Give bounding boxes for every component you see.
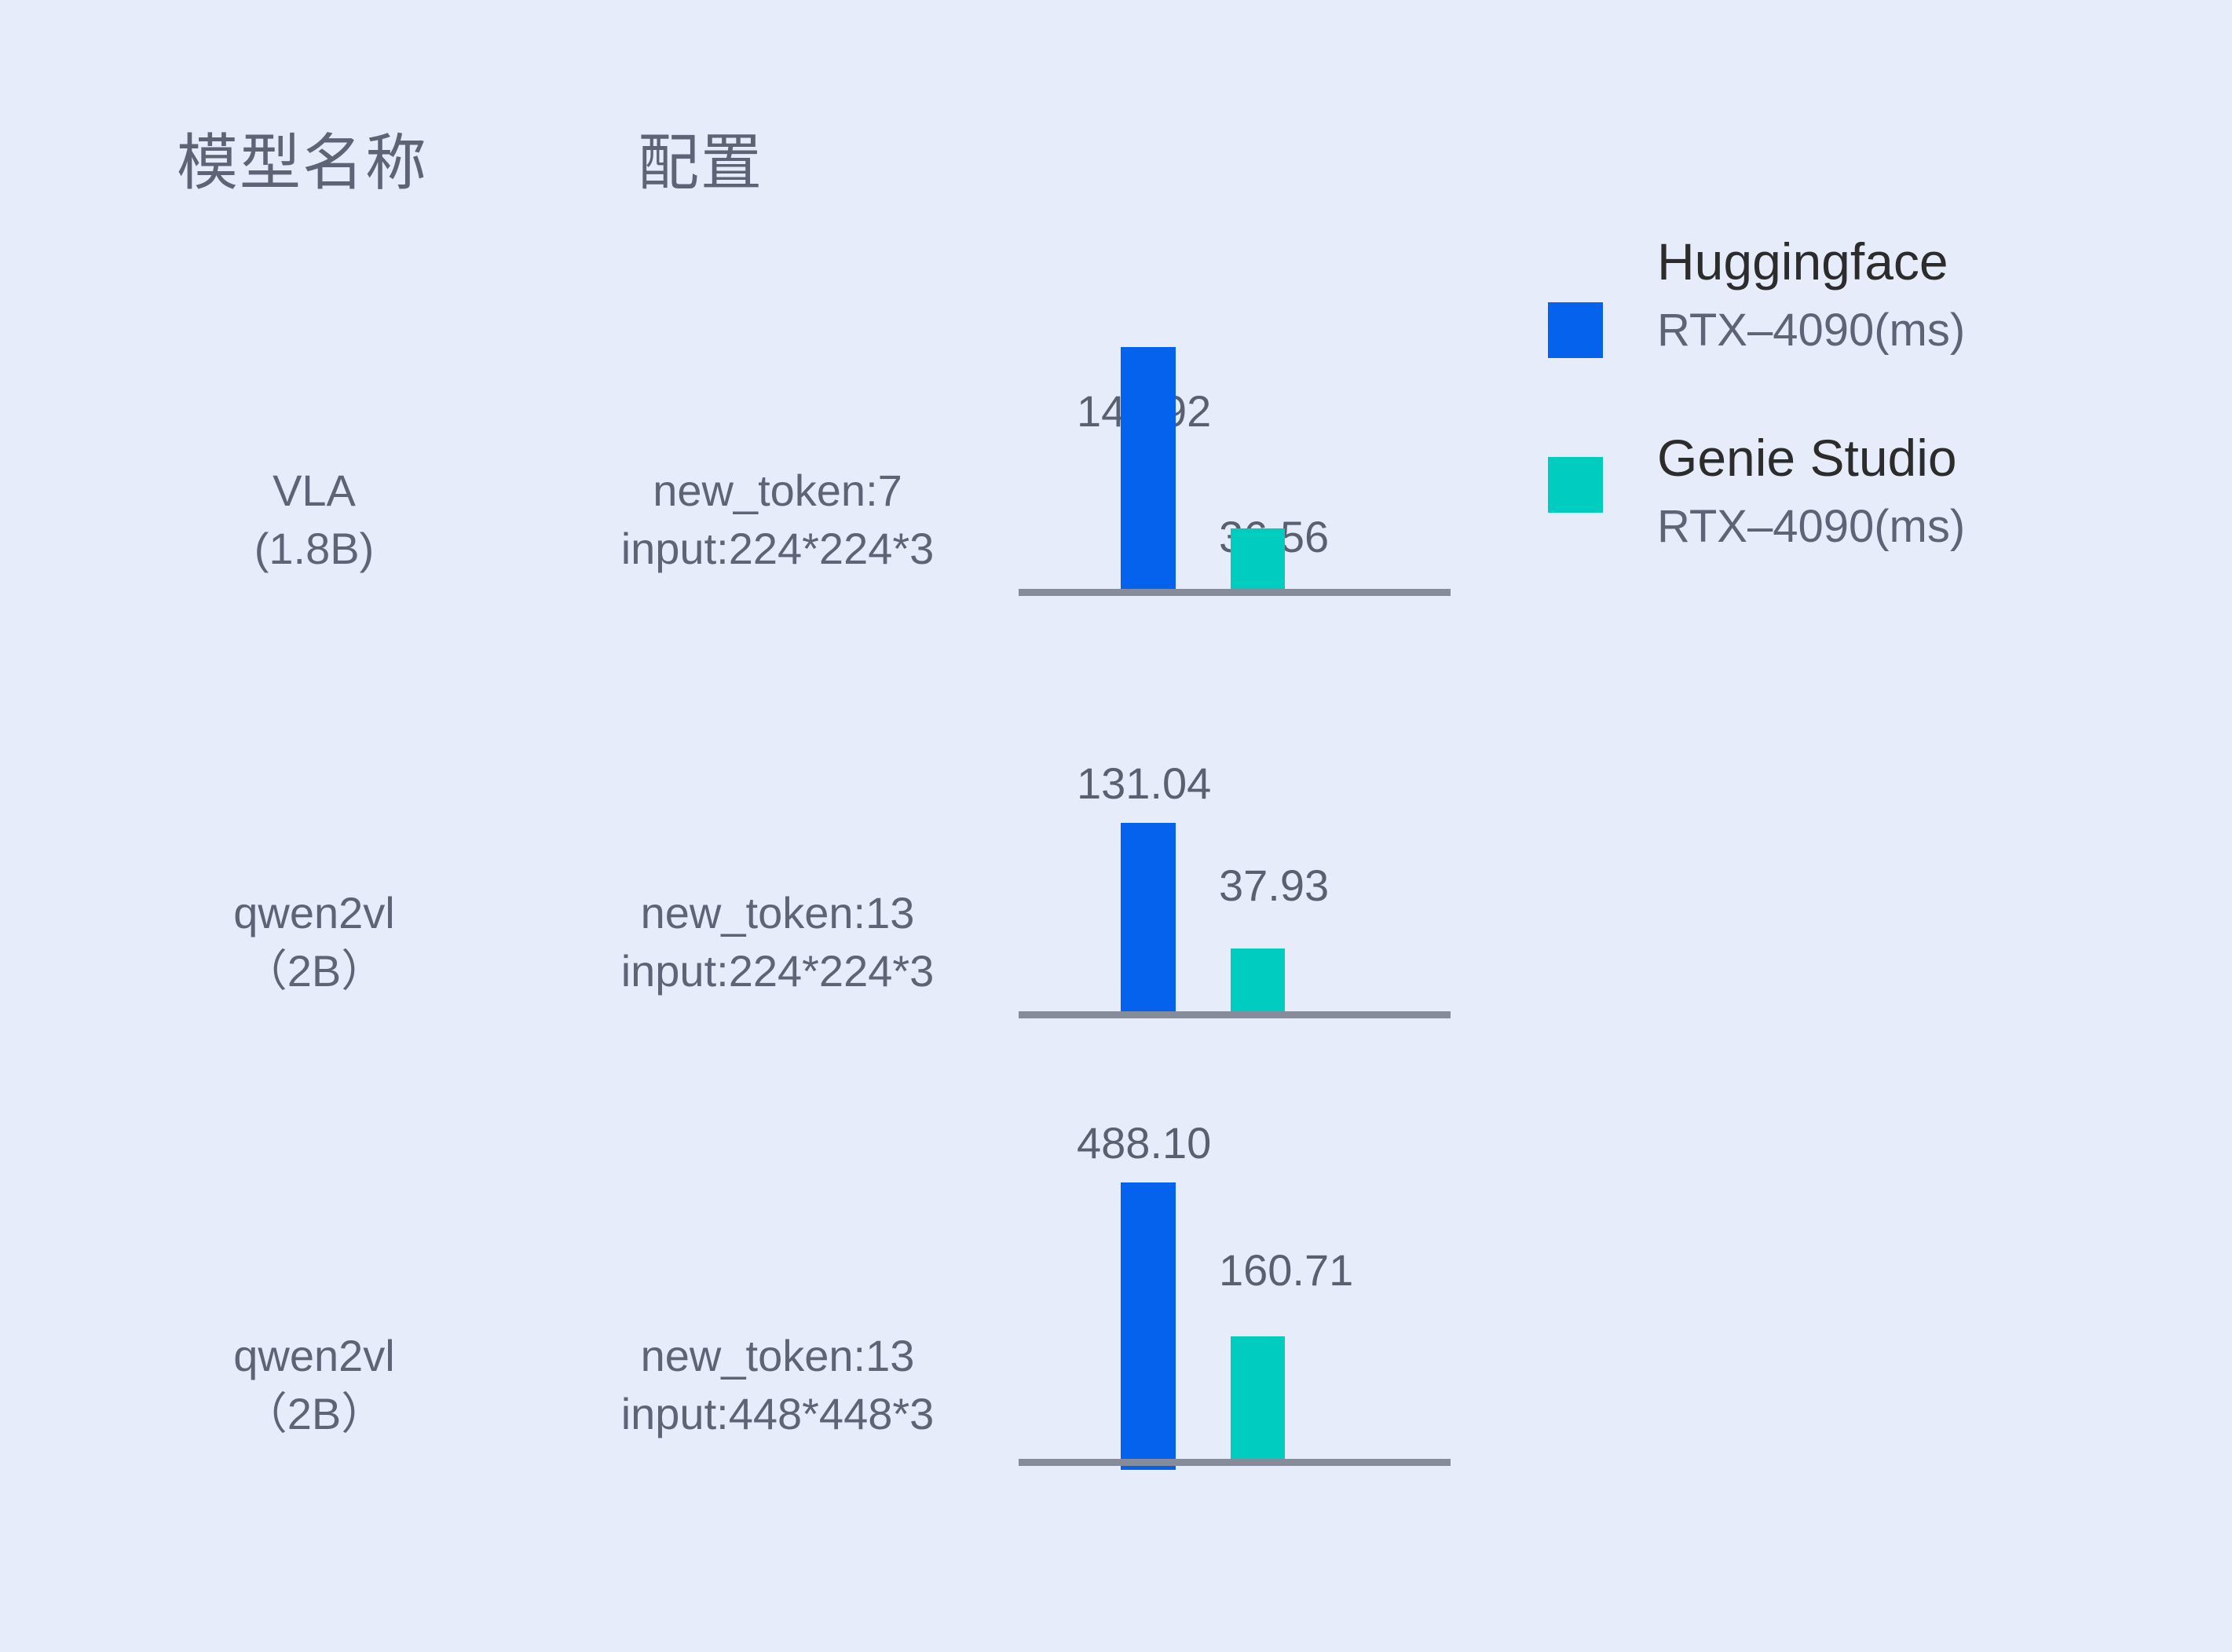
chart-row: VLA (1.8B) new_token:7 input:224*224*3 1… <box>0 236 2232 612</box>
column-header-model-name: 模型名称 <box>177 132 428 193</box>
bar-panel: 131.04 37.93 <box>1019 658 1451 1019</box>
row-model-name-line1: VLA <box>134 462 495 520</box>
row-model-name-line2: (1.8B) <box>134 520 495 578</box>
column-header-config: 配置 <box>638 132 763 193</box>
panel-baseline <box>1019 1011 1451 1018</box>
row-model-name: qwen2vl （2B） <box>134 884 495 1000</box>
chart-canvas: 模型名称 配置 VLA (1.8B) new_token:7 input:224… <box>0 0 2232 1652</box>
row-config-line2: input:224*224*3 <box>503 520 1052 578</box>
row-config-line1: new_token:13 <box>503 884 1052 942</box>
row-config-line1: new_token:7 <box>503 462 1052 520</box>
chart-row: qwen2vl （2B） new_token:13 input:224*224*… <box>0 658 2232 1035</box>
panel-baseline <box>1019 589 1451 596</box>
row-model-name-line1: qwen2vl <box>134 884 495 942</box>
legend-label-genie-studio: Genie Studio <box>1657 432 1957 484</box>
legend-swatch-huggingface-icon <box>1548 302 1603 358</box>
row-model-name: qwen2vl （2B） <box>134 1327 495 1443</box>
bar-genie-studio[interactable] <box>1231 948 1285 1011</box>
row-model-name-line1: qwen2vl <box>134 1327 495 1385</box>
bar-huggingface[interactable] <box>1121 823 1176 1011</box>
bar-value-label-huggingface: 488.10 <box>1077 1121 1211 1165</box>
bar-panel: 488.10 160.71 <box>1019 1074 1451 1467</box>
panel-baseline <box>1019 1459 1451 1466</box>
legend-unit-genie-studio: RTX–4090(ms) <box>1657 504 1965 550</box>
row-config-line2: input:448*448*3 <box>503 1385 1052 1443</box>
bar-genie-studio[interactable] <box>1231 1336 1285 1459</box>
row-config: new_token:13 input:448*448*3 <box>503 1327 1052 1443</box>
row-model-name-line2: （2B） <box>134 1385 495 1443</box>
row-config: new_token:7 input:224*224*3 <box>503 462 1052 578</box>
row-model-name-line2: （2B） <box>134 942 495 1000</box>
chart-row: qwen2vl （2B） new_token:13 input:448*448*… <box>0 1074 2232 1482</box>
row-config-line1: new_token:13 <box>503 1327 1052 1385</box>
bar-panel: 141.92 36.56 <box>1019 236 1451 597</box>
legend-label-huggingface: Huggingface <box>1657 236 1948 287</box>
legend-unit-huggingface: RTX–4090(ms) <box>1657 308 1965 353</box>
bar-value-label-genie-studio: 160.71 <box>1219 1248 1353 1292</box>
row-config-line2: input:224*224*3 <box>503 942 1052 1000</box>
bar-value-label-huggingface: 131.04 <box>1077 762 1211 806</box>
bar-genie-studio[interactable] <box>1231 528 1285 589</box>
row-model-name: VLA (1.8B) <box>134 462 495 578</box>
legend-swatch-genie-studio-icon <box>1548 457 1603 513</box>
bar-huggingface[interactable] <box>1121 347 1176 589</box>
bar-value-label-genie-studio: 37.93 <box>1219 864 1329 908</box>
bar-huggingface[interactable] <box>1121 1182 1176 1470</box>
row-config: new_token:13 input:224*224*3 <box>503 884 1052 1000</box>
